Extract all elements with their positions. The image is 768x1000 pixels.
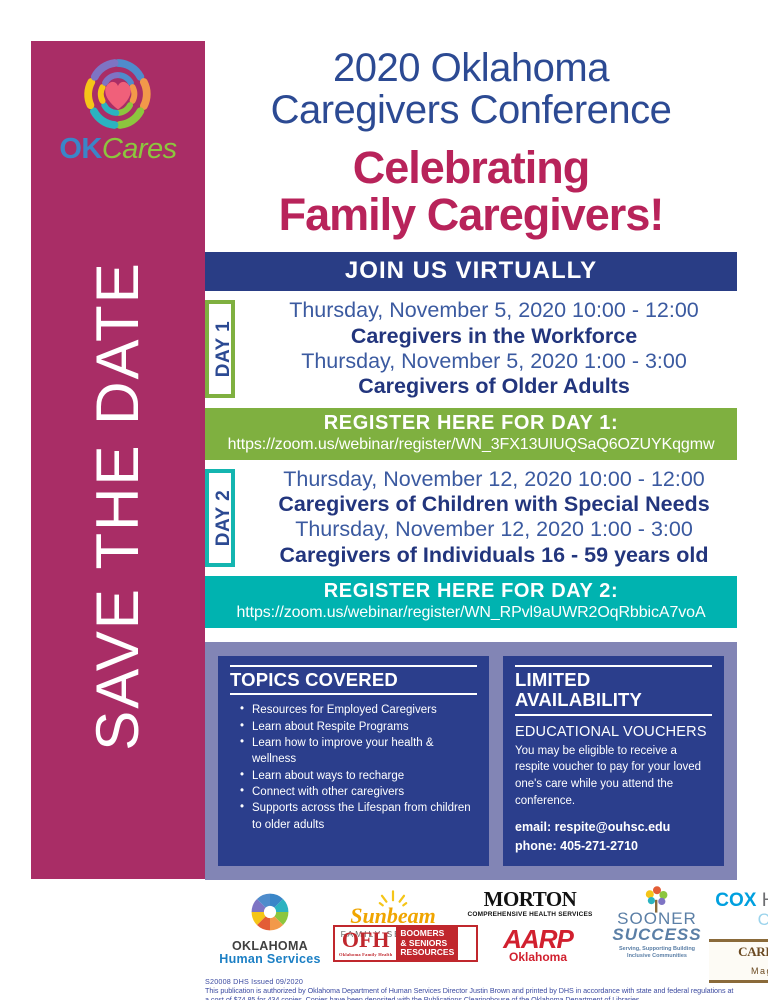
sponsor-oklahoma-human-services: OKLAHOMA Human Services — [215, 889, 325, 966]
cox-care-text: Care — [711, 911, 768, 929]
main-content: 2020 Oklahoma Caregivers Conference Cele… — [205, 41, 737, 1000]
fine-print-publication-id: S20008 DHS Issued 09/2020 — [205, 977, 737, 986]
day-2-badge: DAY 2 — [205, 469, 235, 567]
sponsor-caregiver-magazine: CAREGIVER Magazine — [709, 939, 768, 983]
subtitle-line-1: Celebrating — [205, 144, 737, 192]
sponsor-sooner-success: SOONER SUCCESS Serving, Supporting Build… — [597, 885, 717, 960]
day-1-register-label: REGISTER HERE FOR DAY 1: — [205, 412, 737, 435]
day-2-session-2-topic: Caregivers of Individuals 16 - 59 years … — [251, 543, 737, 568]
sooner-success-wordmark: SOONER SUCCESS — [597, 911, 717, 944]
list-item: Resources for Employed Caregivers — [243, 702, 477, 718]
list-item: Learn about ways to recharge — [243, 768, 477, 784]
join-us-virtually-banner: JOIN US VIRTUALLY — [205, 252, 737, 291]
caregiver-text: CAREGIVER — [738, 944, 768, 959]
contact-phone[interactable]: phone: 405-271-2710 — [515, 837, 712, 855]
sponsor-morton: MORTON COMPREHENSIVE HEALTH SERVICES — [455, 889, 605, 918]
ofh-mark: OFH Oklahoma Family Health — [335, 927, 396, 961]
flyer-page: OKCares SAVE THE DATE 2020 Oklahoma Care… — [0, 0, 768, 1000]
cox-text: COX — [715, 890, 756, 911]
day-1-session-1-time: Thursday, November 5, 2020 10:00 - 12:00 — [251, 298, 737, 323]
sooner-tagline-1: Serving, Supporting Building — [597, 946, 717, 953]
conference-title: 2020 Oklahoma Caregivers Conference — [205, 41, 737, 132]
sooner-line-2: SUCCESS — [597, 927, 717, 944]
subtitle-line-2: Family Caregivers! — [205, 191, 737, 239]
ofh-resources-text: BOOMERS & SENIORS RESOURCES — [396, 927, 458, 961]
topics-covered-list: Resources for Employed Caregivers Learn … — [230, 702, 477, 833]
ok-cares-circle-heart-icon — [75, 51, 161, 137]
day-2-badge-label: DAY 2 — [213, 469, 235, 567]
title-line-2: Caregivers Conference — [205, 89, 737, 131]
aarp-wordmark: AARP — [483, 927, 593, 952]
dhs-line-1: OKLAHOMA — [215, 940, 325, 953]
sponsor-ofh: OFH Oklahoma Family Health BOOMERS & SEN… — [333, 925, 478, 963]
magazine-text: Magazine — [751, 966, 768, 976]
ofh-mark-text: OFH — [342, 927, 390, 952]
sooner-tagline-2: Inclusive Communities — [597, 953, 717, 960]
list-item: Learn about Respite Programs — [243, 719, 477, 735]
aarp-state: Oklahoma — [483, 951, 593, 963]
list-item: Supports across the Lifespan from childr… — [243, 800, 477, 833]
day-1-block: DAY 1 Thursday, November 5, 2020 10:00 -… — [205, 298, 737, 399]
save-the-date-sidebar: OKCares SAVE THE DATE — [31, 41, 205, 879]
day-2-register-banner[interactable]: REGISTER HERE FOR DAY 2: https://zoom.us… — [205, 576, 737, 628]
day-1-badge: DAY 1 — [205, 300, 235, 398]
ofh-line-3: RESOURCES — [400, 948, 454, 958]
contact-email[interactable]: email: respite@ouhsc.edu — [515, 818, 712, 836]
day-1-register-link[interactable]: https://zoom.us/webinar/register/WN_3FX1… — [205, 436, 737, 454]
dhs-line-2: Human Services — [215, 953, 325, 966]
sunbeam-wordmark: Sunbeam — [333, 905, 453, 927]
day-2-block: DAY 2 Thursday, November 12, 2020 10:00 … — [205, 467, 737, 568]
conference-subtitle: Celebrating Family Caregivers! — [205, 144, 737, 239]
day-1-register-banner[interactable]: REGISTER HERE FOR DAY 1: https://zoom.us… — [205, 408, 737, 460]
sponsor-aarp: AARP Oklahoma — [483, 927, 593, 964]
educational-vouchers-subheading: EDUCATIONAL VOUCHERS — [515, 724, 712, 740]
sponsor-cox-homelife: COX Homelife Care — [711, 891, 768, 929]
voucher-description: You may be eligible to receive a respite… — [515, 743, 712, 810]
ofh-logo: OFH Oklahoma Family Health BOOMERS & SEN… — [333, 925, 478, 963]
fine-print: S20008 DHS Issued 09/2020 This publicati… — [205, 977, 737, 1000]
cox-homelife-text: Homelife — [762, 890, 768, 911]
day-2-register-label: REGISTER HERE FOR DAY 2: — [205, 580, 737, 603]
morton-wordmark: MORTON — [455, 889, 605, 910]
day-2-register-link[interactable]: https://zoom.us/webinar/register/WN_RPvl… — [205, 604, 737, 622]
day-1-badge-label: DAY 1 — [213, 300, 235, 398]
list-item: Learn how to improve your health & welln… — [243, 735, 477, 768]
day-1-session-2-time: Thursday, November 5, 2020 1:00 - 3:00 — [251, 349, 737, 374]
contact-info: email: respite@ouhsc.edu phone: 405-271-… — [515, 818, 712, 854]
day-2-session-1-topic: Caregivers of Children with Special Need… — [251, 492, 737, 517]
list-item: Connect with other caregivers — [243, 784, 477, 800]
topics-covered-box: TOPICS COVERED Resources for Employed Ca… — [218, 656, 489, 866]
day-1-session-2-topic: Caregivers of Older Adults — [251, 374, 737, 399]
morton-tagline: COMPREHENSIVE HEALTH SERVICES — [455, 911, 605, 918]
dhs-wordmark: OKLAHOMA Human Services — [215, 940, 325, 966]
cox-wordmark: COX Homelife Care — [711, 891, 768, 929]
info-panel: TOPICS COVERED Resources for Employed Ca… — [205, 642, 737, 880]
caregiver-magazine-logo: CAREGIVER Magazine — [709, 939, 768, 983]
fine-print-body: This publication is authorized by Oklaho… — [205, 986, 737, 1000]
limited-availability-heading: LIMITED AVAILABILITY — [515, 665, 712, 716]
sooner-tagline: Serving, Supporting Building Inclusive C… — [597, 946, 717, 959]
save-the-date-text: SAVE THE DATE — [82, 136, 152, 876]
day-2-session-2-time: Thursday, November 12, 2020 1:00 - 3:00 — [251, 517, 737, 542]
limited-availability-box: LIMITED AVAILABILITY EDUCATIONAL VOUCHER… — [503, 656, 724, 866]
day-2-session-1-time: Thursday, November 12, 2020 10:00 - 12:0… — [251, 467, 737, 492]
ofh-mark-sub: Oklahoma Family Health — [339, 952, 392, 957]
dhs-pinwheel-icon — [247, 889, 293, 935]
sponsor-logos: OKLAHOMA Human Services Sunbeam FAMILY S… — [205, 889, 737, 975]
topics-covered-heading: TOPICS COVERED — [230, 665, 477, 695]
day-1-session-1-topic: Caregivers in the Workforce — [251, 324, 737, 349]
title-line-1: 2020 Oklahoma — [205, 47, 737, 89]
